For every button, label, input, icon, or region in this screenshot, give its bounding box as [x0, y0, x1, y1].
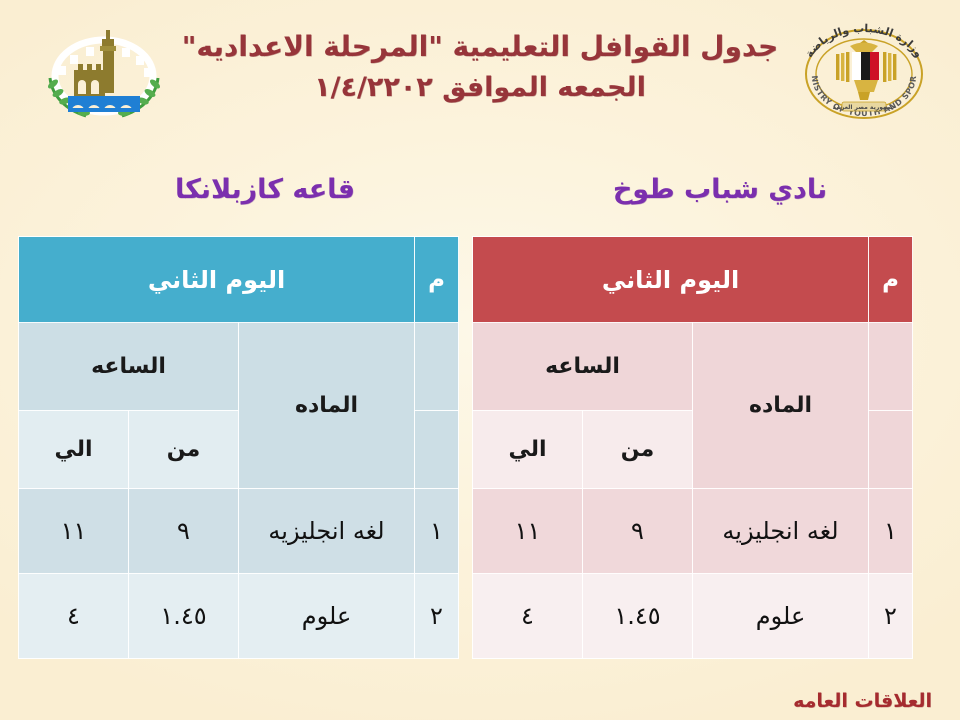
- column-header-from: من: [129, 411, 239, 489]
- footer-public-relations-note: العلاقات العامه: [793, 690, 932, 712]
- cell-time-from: ١.٤٥: [129, 574, 239, 659]
- page-title: جدول القوافل التعليمية ‏"المرحلة الاعداد…: [170, 26, 790, 108]
- cell-row-number: ٢: [415, 574, 459, 659]
- column-header-subject: الماده: [239, 323, 415, 489]
- venue-heading-casablanca-hall: قاعه كازبلانكا: [85, 168, 445, 212]
- cell-subject: لغه انجليزيه: [239, 489, 415, 574]
- cell-subject: لغه انجليزيه: [693, 489, 869, 574]
- column-header-day: اليوم الثاني: [19, 237, 415, 323]
- column-header-subject: الماده: [693, 323, 869, 489]
- column-header-no-spacer: [869, 323, 913, 411]
- cell-time-to: ١١: [19, 489, 129, 574]
- page-header: جدول القوافل التعليمية ‏"المرحلة الاعداد…: [0, 0, 960, 150]
- cell-row-number: ١: [869, 489, 913, 574]
- cell-subject: علوم: [693, 574, 869, 659]
- column-header-to: الي: [473, 411, 583, 489]
- cell-subject: علوم: [239, 574, 415, 659]
- column-header-no-spacer-2: [869, 411, 913, 489]
- column-header-from: من: [583, 411, 693, 489]
- page-title-line-1: جدول القوافل التعليمية ‏"المرحلة الاعداد…: [170, 26, 790, 68]
- cell-time-to: ٤: [19, 574, 129, 659]
- column-header-no: م: [869, 237, 913, 323]
- table-row: ٢ علوم ١.٤٥ ٤: [19, 574, 459, 659]
- table-header-group-row: الماده الساعه: [19, 323, 459, 411]
- page-title-line-2: الجمعه الموافق ١/٤/٢٢٠٢: [170, 68, 790, 108]
- column-header-no-spacer-2: [415, 411, 459, 489]
- column-header-time: الساعه: [19, 323, 239, 411]
- cell-time-to: ١١: [473, 489, 583, 574]
- column-header-no-spacer: [415, 323, 459, 411]
- table-row: ١ لغه انجليزيه ٩ ١١: [19, 489, 459, 574]
- svg-text:جمهورية مصر العربية: جمهورية مصر العربية: [833, 104, 896, 111]
- ministry-of-youth-and-sports-seal-icon: وزارة الشباب والرياضة MINISTRY OF YOUTH …: [784, 14, 944, 128]
- column-header-to: الي: [19, 411, 129, 489]
- cell-time-from: ٩: [583, 489, 693, 574]
- column-header-day: اليوم الثاني: [473, 237, 869, 323]
- table-header-group-row: الماده الساعه: [473, 323, 913, 411]
- cell-row-number: ١: [415, 489, 459, 574]
- table-header-day-row: م اليوم الثاني: [19, 237, 459, 323]
- schedule-table-casablanca-hall: م اليوم الثاني الماده الساعه من الي ١ لغ…: [18, 236, 459, 659]
- cell-time-from: ١.٤٥: [583, 574, 693, 659]
- column-header-time: الساعه: [473, 323, 693, 411]
- table-row: ١ لغه انجليزيه ٩ ١١: [473, 489, 913, 574]
- cell-time-from: ٩: [129, 489, 239, 574]
- table-header-day-row: م اليوم الثاني: [473, 237, 913, 323]
- venue-heading-toukh-youth-club: نادي شباب طوخ: [540, 168, 900, 212]
- schedule-table-toukh-youth-club: م اليوم الثاني الماده الساعه من الي ١ لغ…: [472, 236, 913, 659]
- column-header-no: م: [415, 237, 459, 323]
- table-row: ٢ علوم ١.٤٥ ٤: [473, 574, 913, 659]
- cell-time-to: ٤: [473, 574, 583, 659]
- cell-row-number: ٢: [869, 574, 913, 659]
- governorate-emblem-icon: [34, 22, 174, 126]
